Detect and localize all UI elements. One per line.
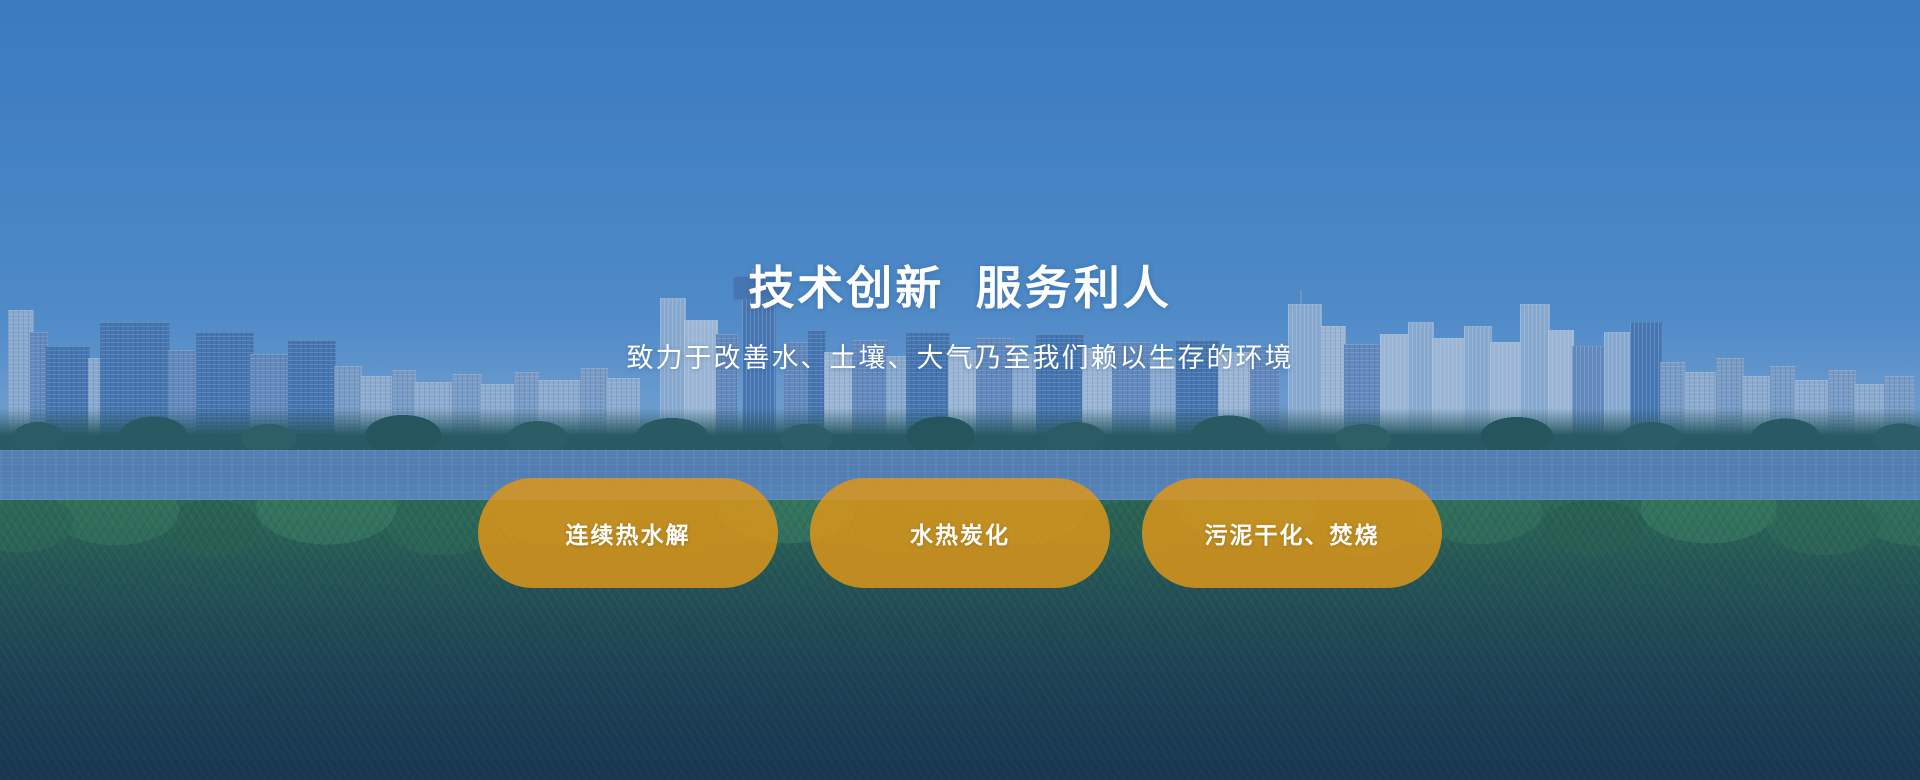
service-button-continuous-thermal-hydrolysis[interactable]: 连续热水解: [478, 478, 778, 588]
service-pill-row: 连续热水解 水热炭化 污泥干化、焚烧: [0, 478, 1920, 588]
hero-banner: 技术创新 服务利人 致力于改善水、土壤、大气乃至我们赖以生存的环境 连续热水解 …: [0, 0, 1920, 780]
service-button-sludge-drying-incineration[interactable]: 污泥干化、焚烧: [1142, 478, 1442, 588]
page-title: 技术创新 服务利人: [0, 262, 1920, 315]
service-button-label: 水热炭化: [910, 516, 1010, 550]
service-button-label: 污泥干化、焚烧: [1205, 516, 1380, 550]
page-subtitle: 致力于改善水、土壤、大气乃至我们赖以生存的环境: [0, 342, 1920, 376]
service-button-hydrothermal-carbonization[interactable]: 水热炭化: [810, 478, 1110, 588]
hero-content: 技术创新 服务利人 致力于改善水、土壤、大气乃至我们赖以生存的环境 连续热水解 …: [0, 0, 1920, 780]
service-button-label: 连续热水解: [566, 516, 691, 550]
